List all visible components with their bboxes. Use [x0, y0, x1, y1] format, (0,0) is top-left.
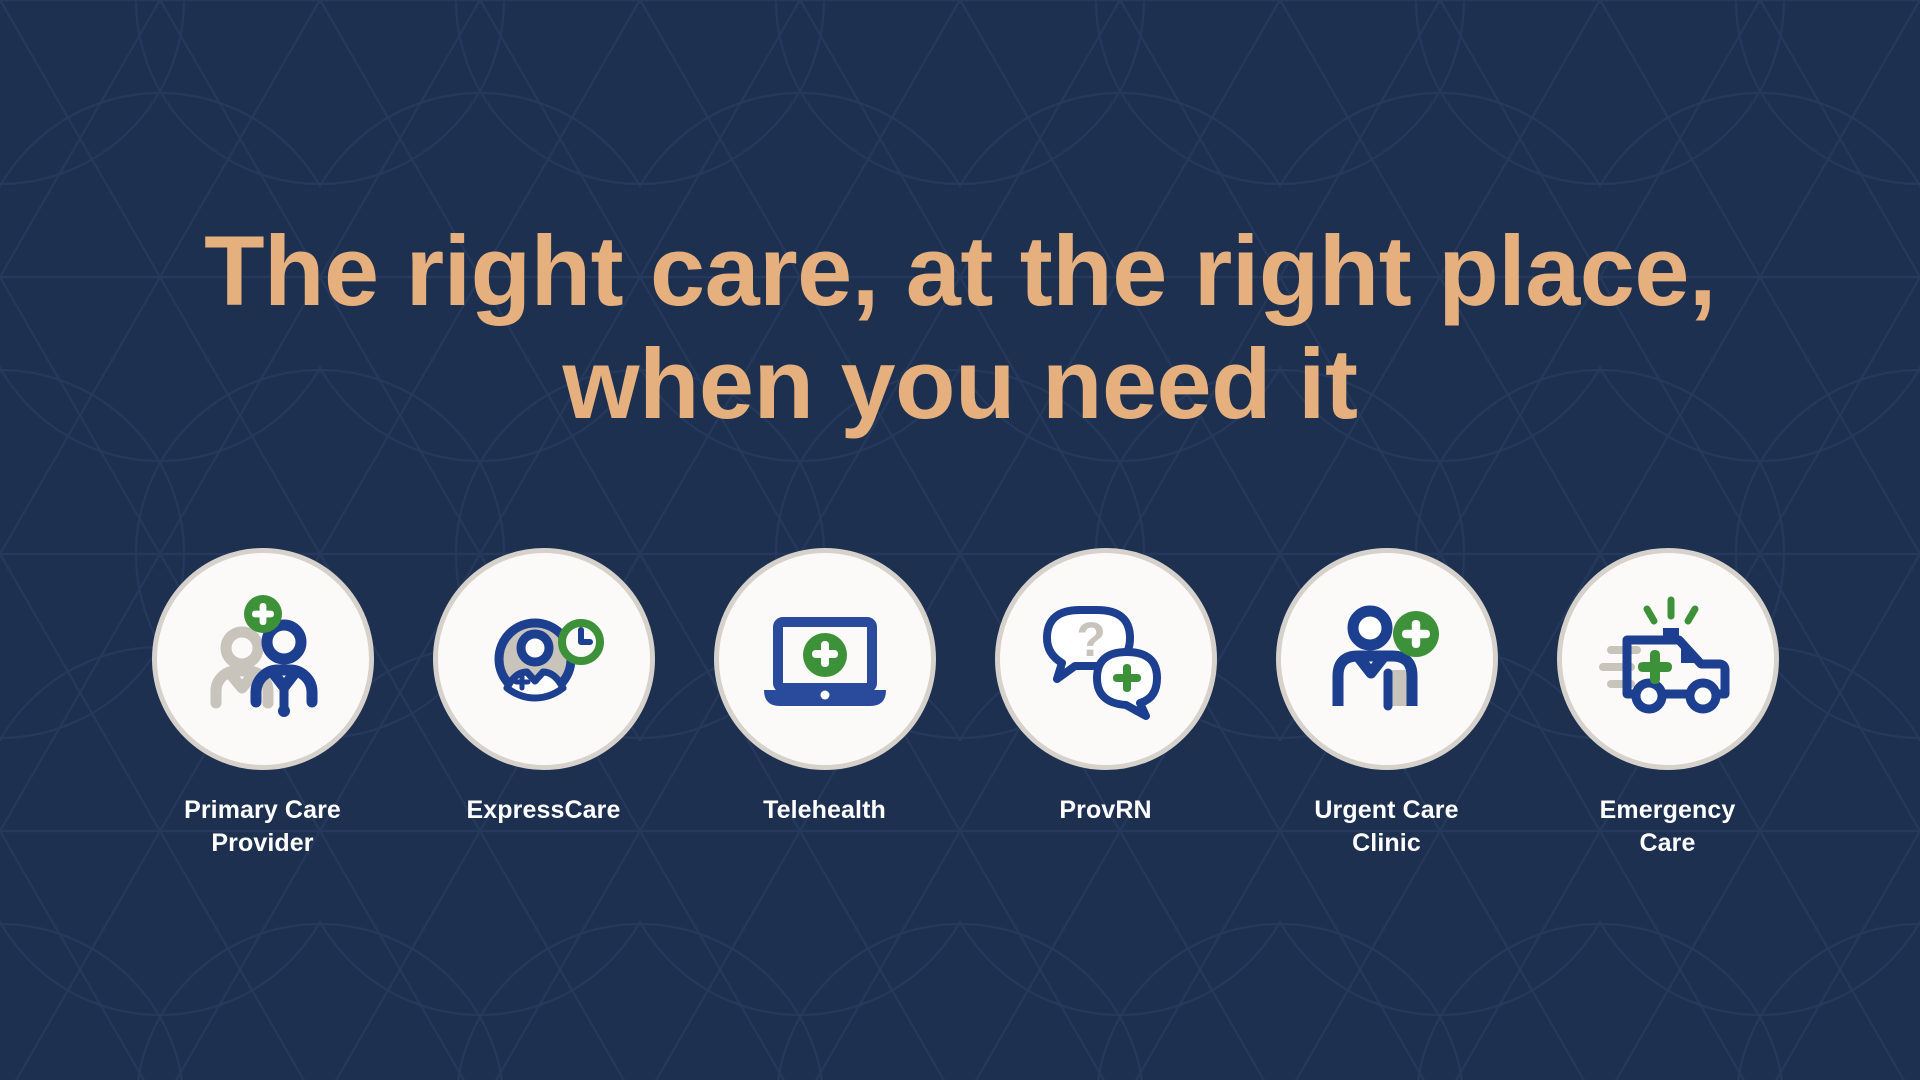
icon-disc [152, 548, 374, 770]
card-label: Emergency Care [1600, 794, 1736, 860]
slide-root: The right care, at the right place, when… [0, 0, 1920, 1080]
page-title-line-2: when you need it [130, 328, 1790, 441]
card-label: Urgent Care Clinic [1314, 794, 1458, 860]
icon-disc [1276, 548, 1498, 770]
person-plus-badge-icon [1312, 584, 1462, 734]
icon-disc [1557, 548, 1779, 770]
card-telehealth[interactable]: Telehealth [714, 548, 936, 827]
chat-bubbles-question-plus-icon: ? [1031, 584, 1181, 734]
care-options-row: Primary Care Provider [0, 548, 1920, 860]
card-label: ExpressCare [467, 794, 621, 827]
card-expresscare[interactable]: ExpressCare [433, 548, 655, 827]
page-title-line-1: The right care, at the right place, [130, 215, 1790, 328]
card-label: ProvRN [1059, 794, 1151, 827]
ambulance-icon [1593, 584, 1743, 734]
two-people-plus-icon [188, 584, 338, 734]
page-title: The right care, at the right place, when… [0, 215, 1920, 441]
card-label: Telehealth [763, 794, 886, 827]
icon-disc: ? [995, 548, 1217, 770]
icon-disc [433, 548, 655, 770]
card-emergency-care[interactable]: Emergency Care [1557, 548, 1779, 860]
card-urgent-care-clinic[interactable]: Urgent Care Clinic [1276, 548, 1498, 860]
card-label: Primary Care Provider [184, 794, 341, 860]
card-provrn[interactable]: ? ProvRN [995, 548, 1217, 827]
patient-clock-icon [469, 584, 619, 734]
laptop-medical-icon [750, 584, 900, 734]
icon-disc [714, 548, 936, 770]
card-primary-care-provider[interactable]: Primary Care Provider [152, 548, 374, 860]
